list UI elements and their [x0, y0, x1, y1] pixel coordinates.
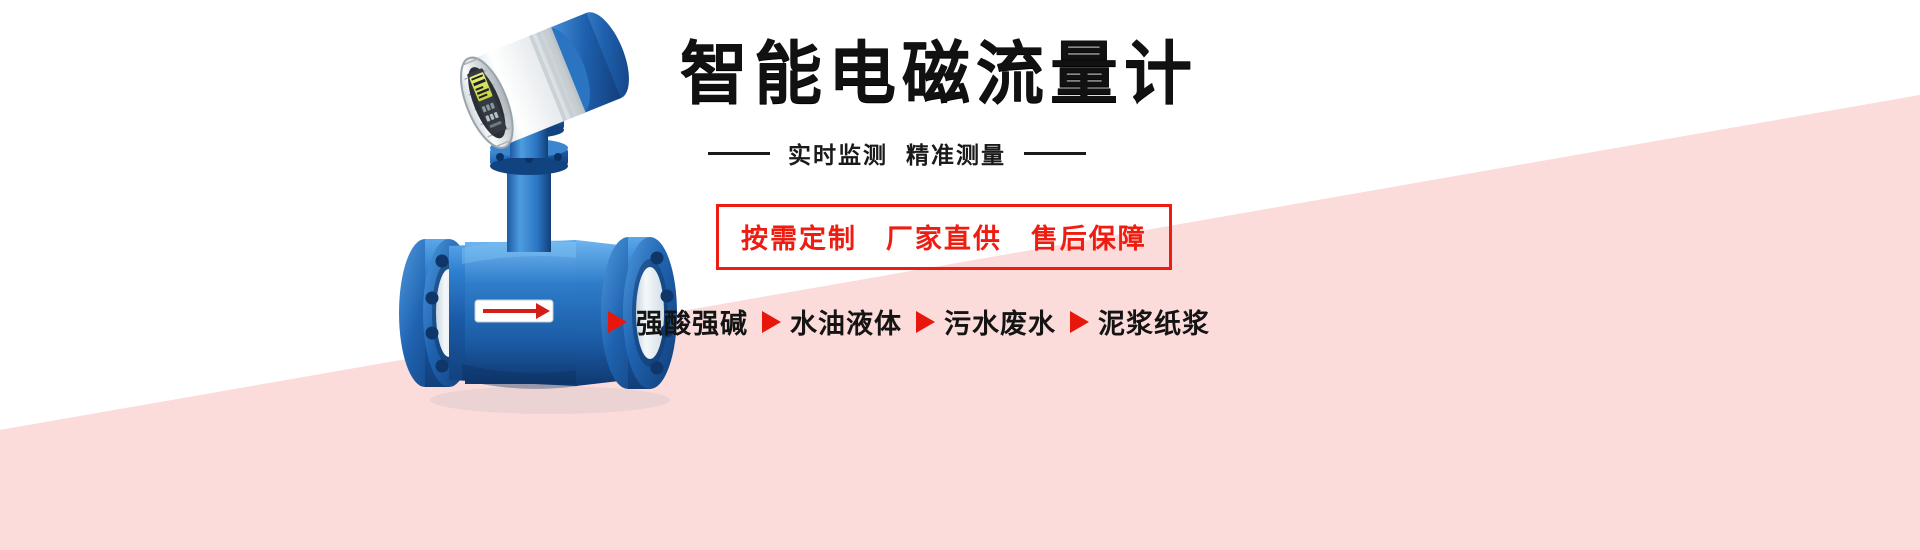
- promo-item-1: 厂家直供: [886, 224, 1002, 254]
- rule-left-divider: [708, 152, 770, 155]
- subtitle-right: 精准测量: [906, 136, 1006, 170]
- promo-item-0: 按需定制: [741, 224, 857, 254]
- subtitle-row: 实时监测 精准测量: [708, 136, 1400, 170]
- feature-item-2: 污水废水: [916, 302, 1056, 341]
- feature-item-1: 水油液体: [762, 302, 902, 341]
- banner-copy: 智能电磁流量计 实时监测 精准测量 按需定制 厂家直供 售后保障 强酸强碱 水油…: [700, 40, 1400, 460]
- feature-label-1: 水油液体: [790, 302, 902, 341]
- promo-guarantee-box: 按需定制 厂家直供 售后保障: [716, 204, 1172, 270]
- arrow-right-icon: [1070, 311, 1089, 333]
- arrow-right-icon: [762, 311, 781, 333]
- feature-item-3: 泥浆纸浆: [1070, 302, 1210, 341]
- rule-right-divider: [1024, 152, 1086, 155]
- feature-item-0: 强酸强碱: [608, 302, 748, 341]
- feature-label-2: 污水废水: [944, 302, 1056, 341]
- feature-label-0: 强酸强碱: [636, 302, 748, 341]
- arrow-right-icon: [608, 311, 627, 333]
- arrow-right-icon: [916, 311, 935, 333]
- promo-banner: 智能电磁流量计 实时监测 精准测量 按需定制 厂家直供 售后保障 强酸强碱 水油…: [0, 0, 1920, 550]
- subtitle-left: 实时监测: [788, 136, 888, 170]
- page-title: 智能电磁流量计: [680, 40, 1400, 108]
- feature-label-3: 泥浆纸浆: [1098, 302, 1210, 341]
- feature-list: 强酸强碱 水油液体 污水废水 泥浆纸浆: [608, 302, 1400, 341]
- promo-item-2: 售后保障: [1031, 224, 1147, 254]
